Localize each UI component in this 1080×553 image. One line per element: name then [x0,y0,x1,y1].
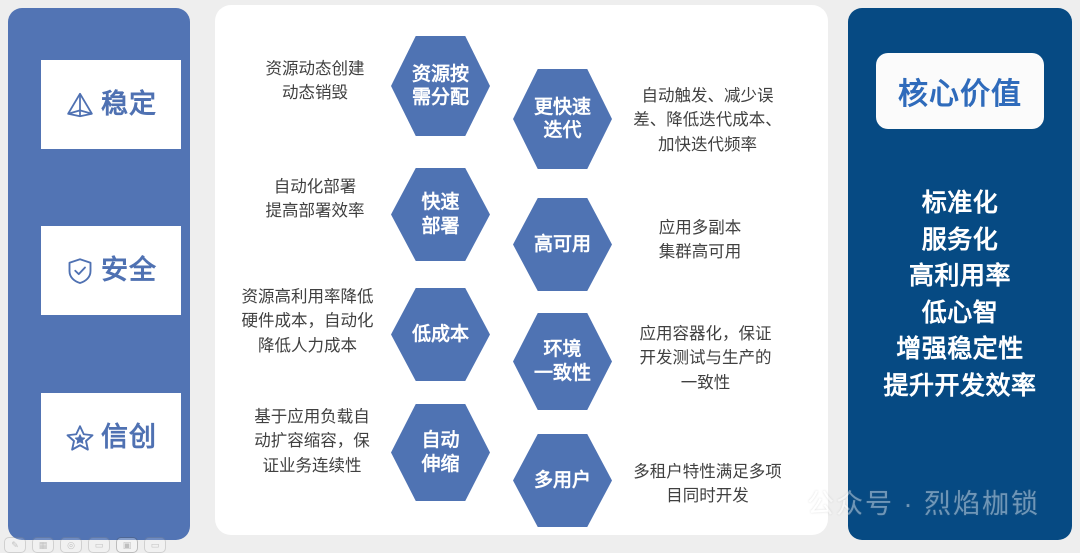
hex-multi-user[interactable]: 多用户 [513,434,612,527]
right-panel: 核心价值 标准化 服务化 高利用率 低心智 增强稳定性 提升开发效率 [848,8,1072,540]
camera-icon[interactable]: ▣ [116,537,138,553]
left-card-security[interactable]: 安全 [41,226,181,315]
hex-fast-deploy[interactable]: 快速部署 [391,168,490,261]
hex-label: 更快速迭代 [532,96,593,142]
hex-faster-iteration[interactable]: 更快速迭代 [513,69,612,169]
middle-panel: 资源按需分配 资源动态创建动态销毁 更快速迭代 自动触发、减少误差、降低迭代成本… [215,5,828,535]
core-value-badge-label: 核心价值 [898,69,1022,113]
pyramid-icon [65,90,95,120]
grid-icon[interactable]: ▦ [32,537,54,553]
core-value-item: 标准化 [922,190,999,218]
hex-low-cost[interactable]: 低成本 [391,288,490,381]
hex-label: 环境一致性 [532,338,593,384]
core-value-item: 高利用率 [909,263,1011,291]
core-value-item: 增强稳定性 [896,336,1024,364]
left-card-stability[interactable]: 稳定 [41,60,181,149]
shield-check-icon [65,256,95,286]
hex-high-availability[interactable]: 高可用 [513,198,612,291]
pen-icon[interactable]: ✎ [4,537,26,553]
left-card-xinchuang[interactable]: 信创 [41,393,181,482]
desc-auto-scaling: 基于应用负载自动扩容缩容，保证业务连续性 [233,405,391,478]
hex-env-consistency[interactable]: 环境一致性 [513,313,612,410]
hex-label: 高可用 [532,233,593,256]
hex-label: 自动伸缩 [419,429,461,475]
minus-icon[interactable]: ▭ [88,537,110,553]
core-value-badge: 核心价值 [876,53,1044,129]
desc-multi-user: 多租户特性满足多项目同时开发 [615,460,800,509]
hex-label: 低成本 [410,323,471,346]
core-value-item: 提升开发效率 [883,373,1036,401]
hex-label: 资源按需分配 [410,63,471,109]
hex-resource-on-demand[interactable]: 资源按需分配 [391,36,490,136]
left-card-label: 信创 [101,424,157,451]
desc-fast-deploy: 自动化部署提高部署效率 [240,175,390,224]
dash-icon[interactable]: ▭ [144,537,166,553]
hex-label: 多用户 [532,469,593,492]
core-value-item: 低心智 [922,300,999,328]
left-card-label: 稳定 [101,91,157,118]
desc-resource-on-demand: 资源动态创建动态销毁 [240,57,390,106]
desc-faster-iteration: 自动触发、减少误差、降低迭代成本、加快迭代频率 [620,84,795,157]
star-icon [65,423,95,453]
left-panel: 稳定 安全 信创 [8,8,190,540]
bottom-toolbar[interactable]: ✎ ▦ ◎ ▭ ▣ ▭ [4,537,166,553]
desc-low-cost: 资源高利用率降低硬件成本，自动化降低人力成本 [225,285,390,358]
core-value-list: 标准化 服务化 高利用率 低心智 增强稳定性 提升开发效率 [848,190,1072,400]
hex-auto-scaling[interactable]: 自动伸缩 [391,404,490,501]
zoom-icon[interactable]: ◎ [60,537,82,553]
desc-high-availability: 应用多副本集群高可用 [625,216,775,265]
hex-label: 快速部署 [419,191,461,237]
desc-env-consistency: 应用容器化，保证开发测试与生产的一致性 [623,322,788,395]
left-card-label: 安全 [101,257,157,284]
core-value-item: 服务化 [922,227,999,255]
